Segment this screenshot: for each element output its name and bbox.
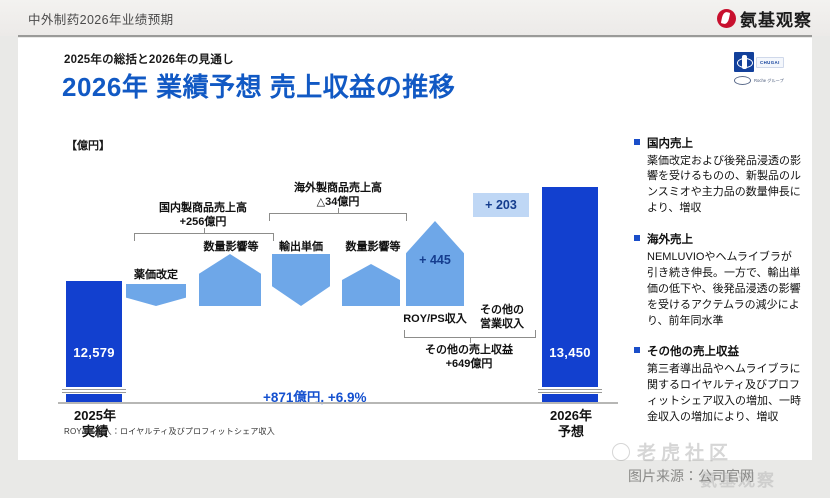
group-label-domestic: 国内製商品売上高 +256億円 <box>128 201 278 230</box>
commentary-item: 国内売上 薬価改定および後発品浸透の影響を受けるものの、新製品のルンスミオや主力… <box>634 134 802 217</box>
axis-break-left <box>62 387 126 394</box>
page-title: 中外制药2026年业绩预期 <box>28 9 174 28</box>
bar-fy2025-actual: 12,579 <box>66 281 122 402</box>
commentary-heading: その他の売上収益 <box>647 346 739 358</box>
commentary-heading: 海外売上 <box>647 234 693 246</box>
brand-wordmark: 氨基观察 <box>740 6 812 31</box>
chugai-wordmark: CHUGAI <box>756 57 784 68</box>
slide-title: 2026年 業績予想 売上収益の推移 <box>62 67 455 104</box>
chugai-logo-sub: Roche グループ <box>754 78 784 84</box>
step-bar-volume-overseas <box>342 264 400 306</box>
flame-drop-icon <box>717 9 736 28</box>
group-label-other-revenue: その他の売上収益 +649億円 <box>398 343 540 372</box>
axis-break-right <box>538 387 602 394</box>
commentary-item: 海外売上 NEMLUVIOやヘムライブラが引き続き伸長。一方で、輸出単価の低下や… <box>634 230 802 329</box>
group-bracket-other-revenue <box>404 330 536 338</box>
commentary-list: 国内売上 薬価改定および後発品浸透の影響を受けるものの、新製品のルンスミオや主力… <box>634 134 802 439</box>
step-bar-drug-price-revision <box>126 284 186 306</box>
page-header: 中外制药2026年业绩预期 氨基观察 <box>0 0 830 36</box>
bullet-square-icon <box>634 235 640 241</box>
chart-footnote: ROY/PS収入：ロイヤルティ及びプロフィットシェア収入 <box>64 426 275 437</box>
commentary-text: NEMLUVIOやヘムライブラが引き続き伸長。一方で、輸出単価の低下や、後発品浸… <box>647 250 802 330</box>
bullet-square-icon <box>634 347 640 353</box>
commentary-text: 薬価改定および後発品浸透の影響を受けるものの、新製品のルンスミオや主力品の数量伸… <box>647 154 802 218</box>
roche-member-icon <box>734 76 751 85</box>
screenshot-root: 中外制药2026年业绩预期 氨基观察 2025年の総括と2026年の見通し 20… <box>0 0 830 498</box>
axis-category-fy2026: 2026年 予想 <box>532 408 610 441</box>
step-bar-export-unit-price <box>272 254 330 306</box>
chugai-emblem-icon <box>734 52 754 72</box>
commentary-text: 第三者導出品やヘムライブラに関するロイヤルティ及びプロフィットシェア収入の増加、… <box>647 362 802 426</box>
slide-canvas: 2025年の総括と2026年の見通し 2026年 業績予想 売上収益の推移 CH… <box>18 38 812 460</box>
bar-fy2026-forecast: 13,450 <box>542 187 598 402</box>
step-label-drug-price-revision: 薬価改定 <box>119 266 193 282</box>
bullet-square-icon <box>634 139 640 145</box>
bar-value-fy2026: 13,450 <box>549 345 591 360</box>
group-bracket-overseas <box>269 213 407 221</box>
bar-value-fy2025: 12,579 <box>73 345 115 360</box>
group-label-overseas: 海外製商品売上高 △34億円 <box>263 181 413 210</box>
step-label-volume-overseas: 数量影響等 <box>328 238 418 254</box>
chart-baseline <box>58 402 618 404</box>
axis-unit-label: 【億円】 <box>66 137 110 153</box>
step-label-other-operating-income: その他の 営業収入 <box>471 304 533 332</box>
commentary-item: その他の売上収益 第三者導出品やヘムライブラに関するロイヤルティ及びプロフィット… <box>634 342 802 425</box>
brand-logo: 氨基观察 <box>717 6 812 30</box>
source-caption: 图片来源：公司官网 <box>628 466 754 486</box>
header-divider <box>18 35 812 37</box>
commentary-heading: 国内売上 <box>647 138 693 150</box>
slide-kicker: 2025年の総括と2026年の見通し <box>64 51 234 67</box>
step-value-royalty-ps-income: + 445 <box>406 253 464 267</box>
chugai-logo: CHUGAI Roche グループ <box>734 52 794 90</box>
step-label-royalty-ps-income: ROY/PS収入 <box>396 310 474 326</box>
step-bar-volume-domestic <box>199 254 261 306</box>
step-value-other-operating-income: + 203 <box>473 198 529 212</box>
